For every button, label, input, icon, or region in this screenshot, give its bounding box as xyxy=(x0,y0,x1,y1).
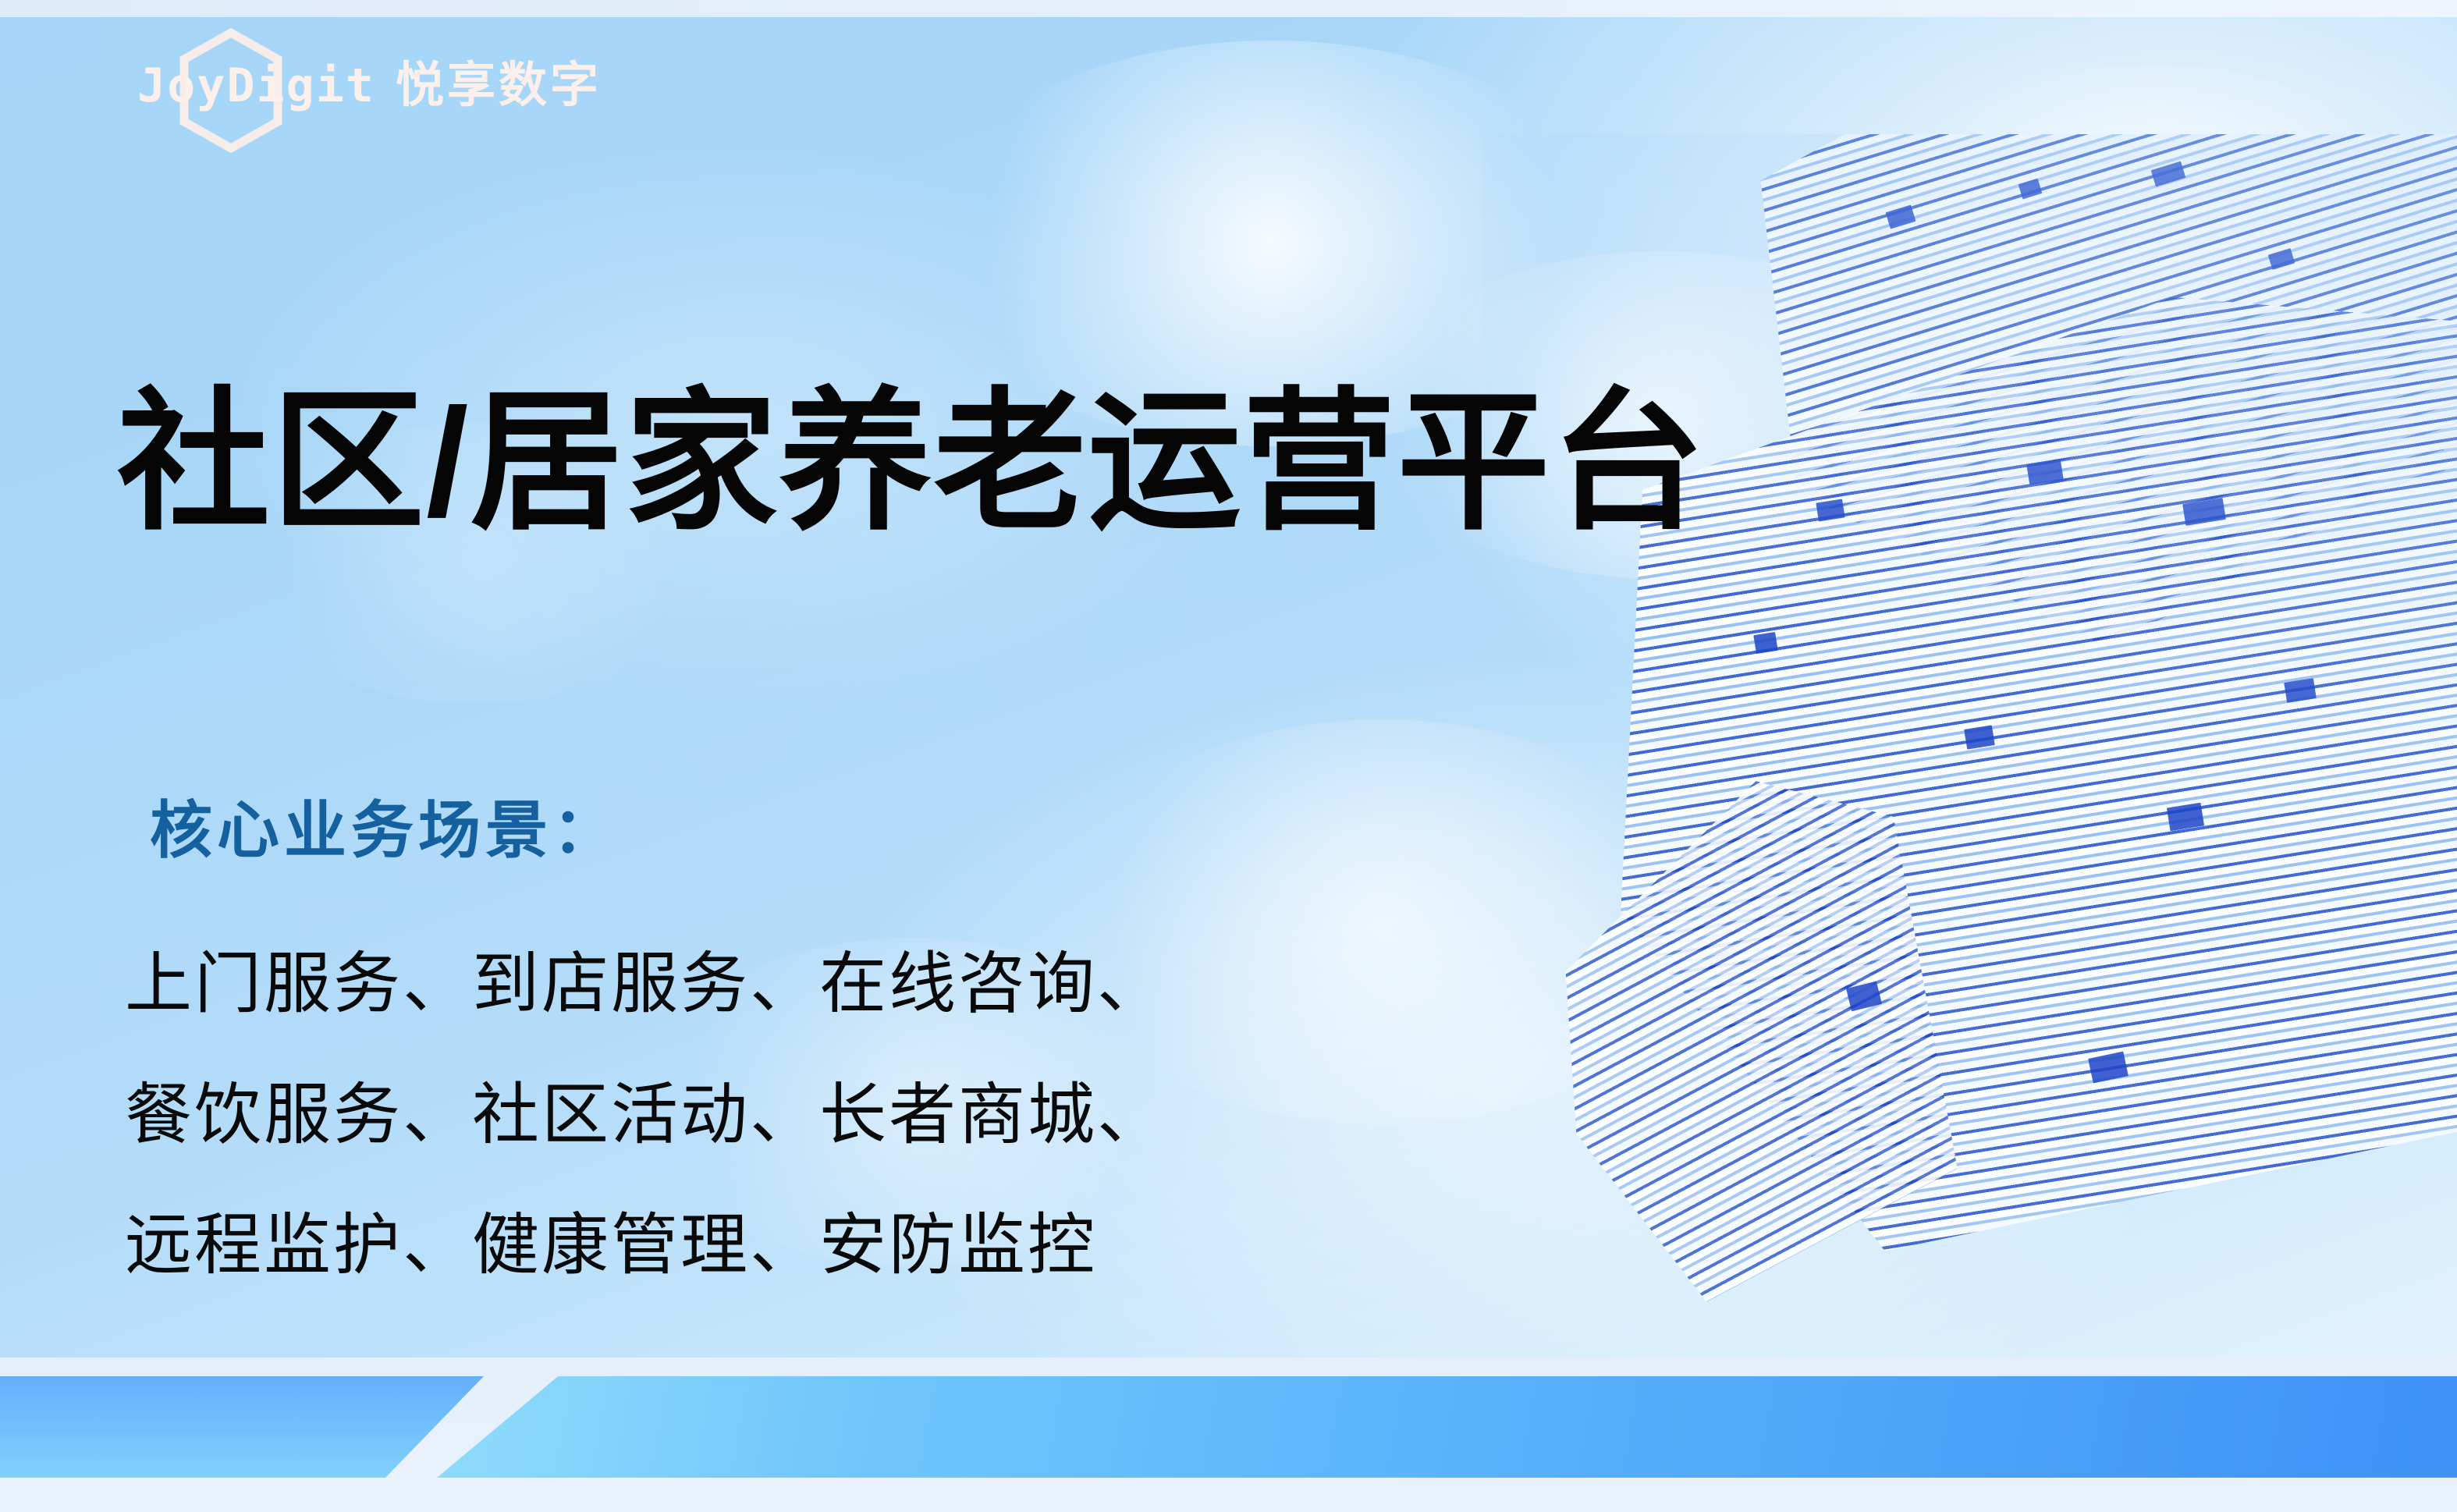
band-right-parallelogram xyxy=(437,1376,2457,1478)
scenario-list: 上门服务、到店服务、在线咨询、 餐饮服务、社区活动、长者商城、 远程监护、健康管… xyxy=(125,919,1166,1311)
slide-root: JoyDigit 悦享数字 社区/居家养老运营平台 核心业务场景： 上门服务、到… xyxy=(0,0,2457,1512)
scenario-line: 远程监护、健康管理、安防监控 xyxy=(125,1180,1166,1311)
band-left-parallelogram xyxy=(0,1376,484,1478)
brand-logo[interactable]: JoyDigit 悦享数字 xyxy=(137,37,602,123)
window-accent xyxy=(1964,725,1995,749)
scenario-line: 餐饮服务、社区活动、长者商城、 xyxy=(125,1050,1166,1181)
top-strip xyxy=(0,0,2457,17)
bottom-decorative-band xyxy=(0,1358,2457,1512)
scenario-line: 上门服务、到店服务、在线咨询、 xyxy=(125,919,1166,1050)
brand-logo-text: JoyDigit 悦享数字 xyxy=(137,45,602,115)
window-accent xyxy=(1753,632,1777,654)
skyscraper-photo xyxy=(1482,134,2457,1375)
brand-logo-cn: 悦享数字 xyxy=(396,45,602,115)
brand-logo-en: JoyDigit xyxy=(137,59,375,113)
page-title: 社区/居家养老运营平台 xyxy=(117,377,1706,548)
section-label: 核心业务场景： xyxy=(150,780,620,871)
